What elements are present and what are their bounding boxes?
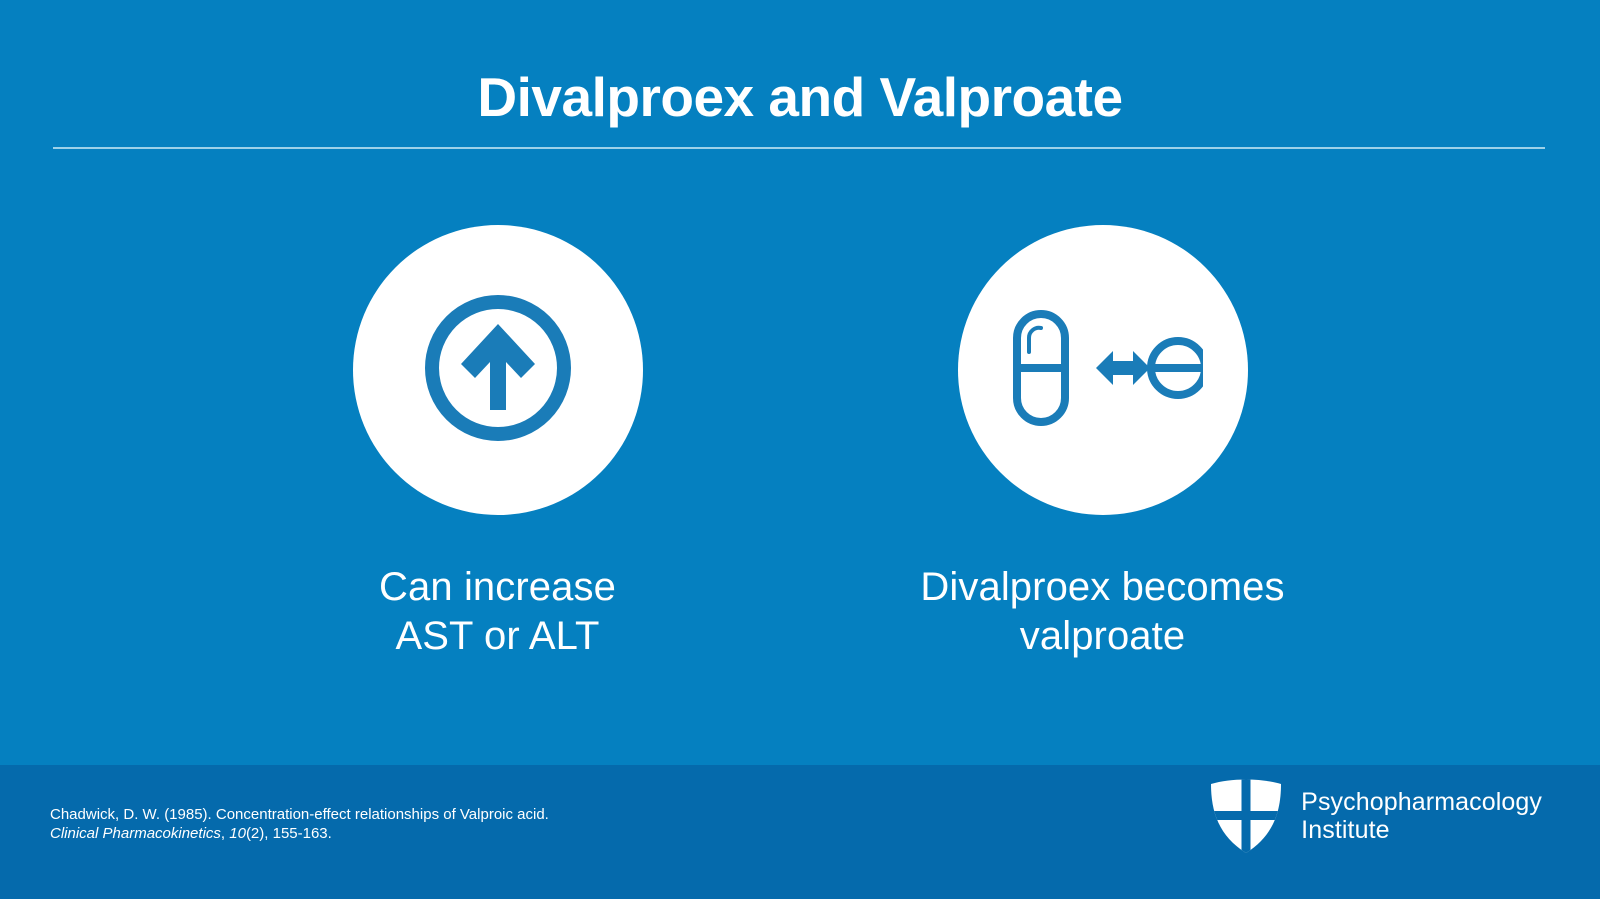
- caption-2-line-2: valproate: [920, 612, 1284, 661]
- caption-2-line-1: Divalproex becomes: [920, 563, 1284, 612]
- citation-issue-pages: (2), 155-163.: [246, 825, 332, 842]
- citation-journal: Clinical Pharmacokinetics: [50, 825, 221, 842]
- slide-root: Divalproex and Valproate Can increase AS…: [0, 0, 1600, 899]
- icon-circle-2: [958, 225, 1248, 515]
- citation-line-1: Chadwick, D. W. (1985). Concentration-ef…: [50, 806, 549, 825]
- brand-name-line-1: Psychopharmacology: [1301, 788, 1542, 816]
- brand-logo-text: Psychopharmacology Institute: [1301, 788, 1542, 844]
- title-divider: [53, 147, 1545, 149]
- shield-logo-icon: [1209, 778, 1283, 854]
- page-title: Divalproex and Valproate: [0, 68, 1600, 127]
- citation-line-2: Clinical Pharmacokinetics, 10(2), 155-16…: [50, 825, 549, 844]
- citation-separator: ,: [221, 825, 229, 842]
- citation-volume: 10: [229, 825, 246, 842]
- content-columns: Can increase AST or ALT: [0, 225, 1600, 665]
- caption-1-line-2: AST or ALT: [379, 612, 616, 661]
- caption-1: Can increase AST or ALT: [379, 563, 616, 661]
- capsule-converts-to-tablet-icon: [1003, 298, 1203, 443]
- brand-logo: Psychopharmacology Institute: [1209, 778, 1542, 854]
- citation: Chadwick, D. W. (1985). Concentration-ef…: [50, 806, 549, 844]
- icon-circle-1: [353, 225, 643, 515]
- caption-1-line-1: Can increase: [379, 563, 616, 612]
- content-column-1: Can increase AST or ALT: [283, 225, 713, 661]
- brand-name-line-2: Institute: [1301, 816, 1542, 844]
- content-column-2: Divalproex becomes valproate: [888, 225, 1318, 661]
- arrow-up-in-circle-icon: [418, 288, 578, 453]
- caption-2: Divalproex becomes valproate: [920, 563, 1284, 661]
